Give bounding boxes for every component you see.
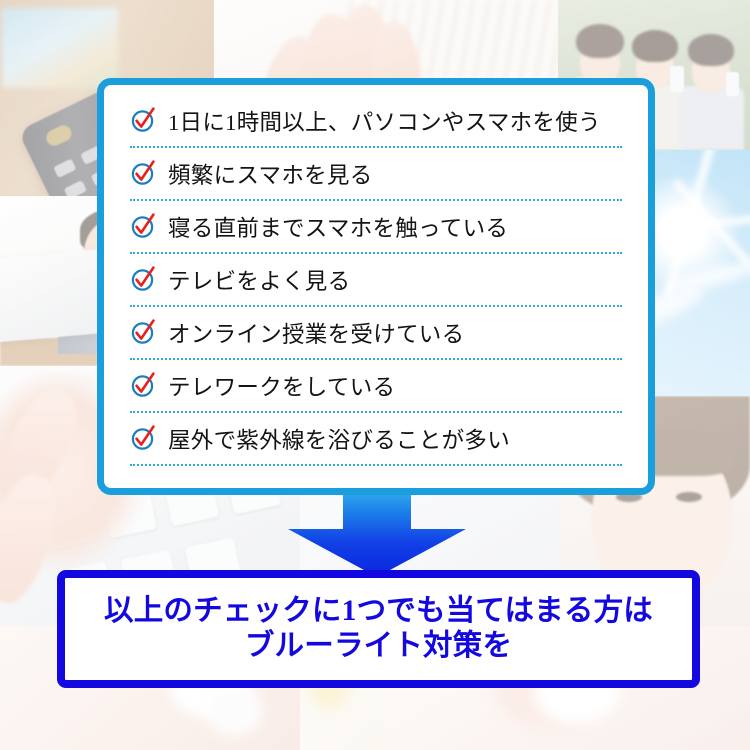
- check-circle-icon: [130, 107, 156, 133]
- conclusion-line-1: 以上のチェックに1つでも当てはまる方は: [104, 594, 653, 629]
- checklist-item[interactable]: テレワークをしている: [130, 360, 622, 413]
- checklist-item-label: テレワークをしている: [168, 370, 395, 402]
- check-circle-icon: [130, 213, 156, 239]
- check-circle-icon: [130, 425, 156, 451]
- down-arrow-icon: [288, 487, 466, 577]
- checklist-card: 1日に1時間以上、パソコンやスマホを使う頻繁にスマホを見る寝る直前までスマホを触…: [97, 78, 655, 495]
- check-circle-icon: [130, 319, 156, 345]
- checklist-item[interactable]: オンライン授業を受けている: [130, 307, 622, 360]
- checklist-item-label: オンライン授業を受けている: [168, 317, 464, 349]
- checklist-item-label: 寝る直前までスマホを触っている: [168, 211, 508, 243]
- checklist-item-label: 屋外で紫外線を浴びることが多い: [168, 423, 510, 455]
- checklist-item[interactable]: 1日に1時間以上、パソコンやスマホを使う: [130, 95, 622, 148]
- checklist: 1日に1時間以上、パソコンやスマホを使う頻繁にスマホを見る寝る直前までスマホを触…: [104, 85, 648, 466]
- checklist-item[interactable]: 頻繁にスマホを見る: [130, 148, 622, 201]
- checklist-item[interactable]: テレビをよく見る: [130, 254, 622, 307]
- checklist-item[interactable]: 寝る直前までスマホを触っている: [130, 201, 622, 254]
- checklist-item-label: 頻繁にスマホを見る: [168, 158, 373, 190]
- checklist-item-label: 1日に1時間以上、パソコンやスマホを使う: [168, 105, 601, 137]
- conclusion-box: 以上のチェックに1つでも当てはまる方は ブルーライト対策を: [57, 570, 700, 688]
- checklist-item[interactable]: 屋外で紫外線を浴びることが多い: [130, 413, 622, 466]
- check-circle-icon: [130, 372, 156, 398]
- conclusion-line-2: ブルーライト対策を: [245, 629, 512, 664]
- checklist-item-label: テレビをよく見る: [168, 264, 350, 296]
- check-circle-icon: [130, 160, 156, 186]
- check-circle-icon: [130, 266, 156, 292]
